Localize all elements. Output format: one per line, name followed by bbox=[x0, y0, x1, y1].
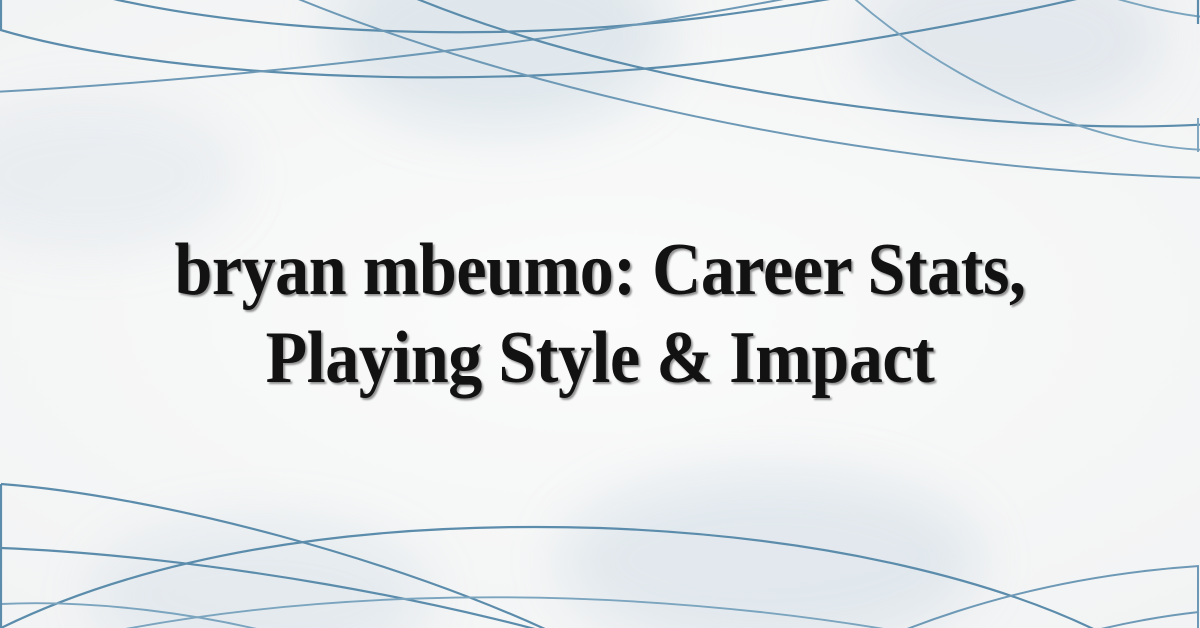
page-title: bryan mbeumo: Career Stats, Playing Styl… bbox=[158, 226, 1041, 402]
social-card: bryan mbeumo: Career Stats, Playing Styl… bbox=[0, 0, 1200, 628]
title-container: bryan mbeumo: Career Stats, Playing Styl… bbox=[0, 0, 1200, 628]
